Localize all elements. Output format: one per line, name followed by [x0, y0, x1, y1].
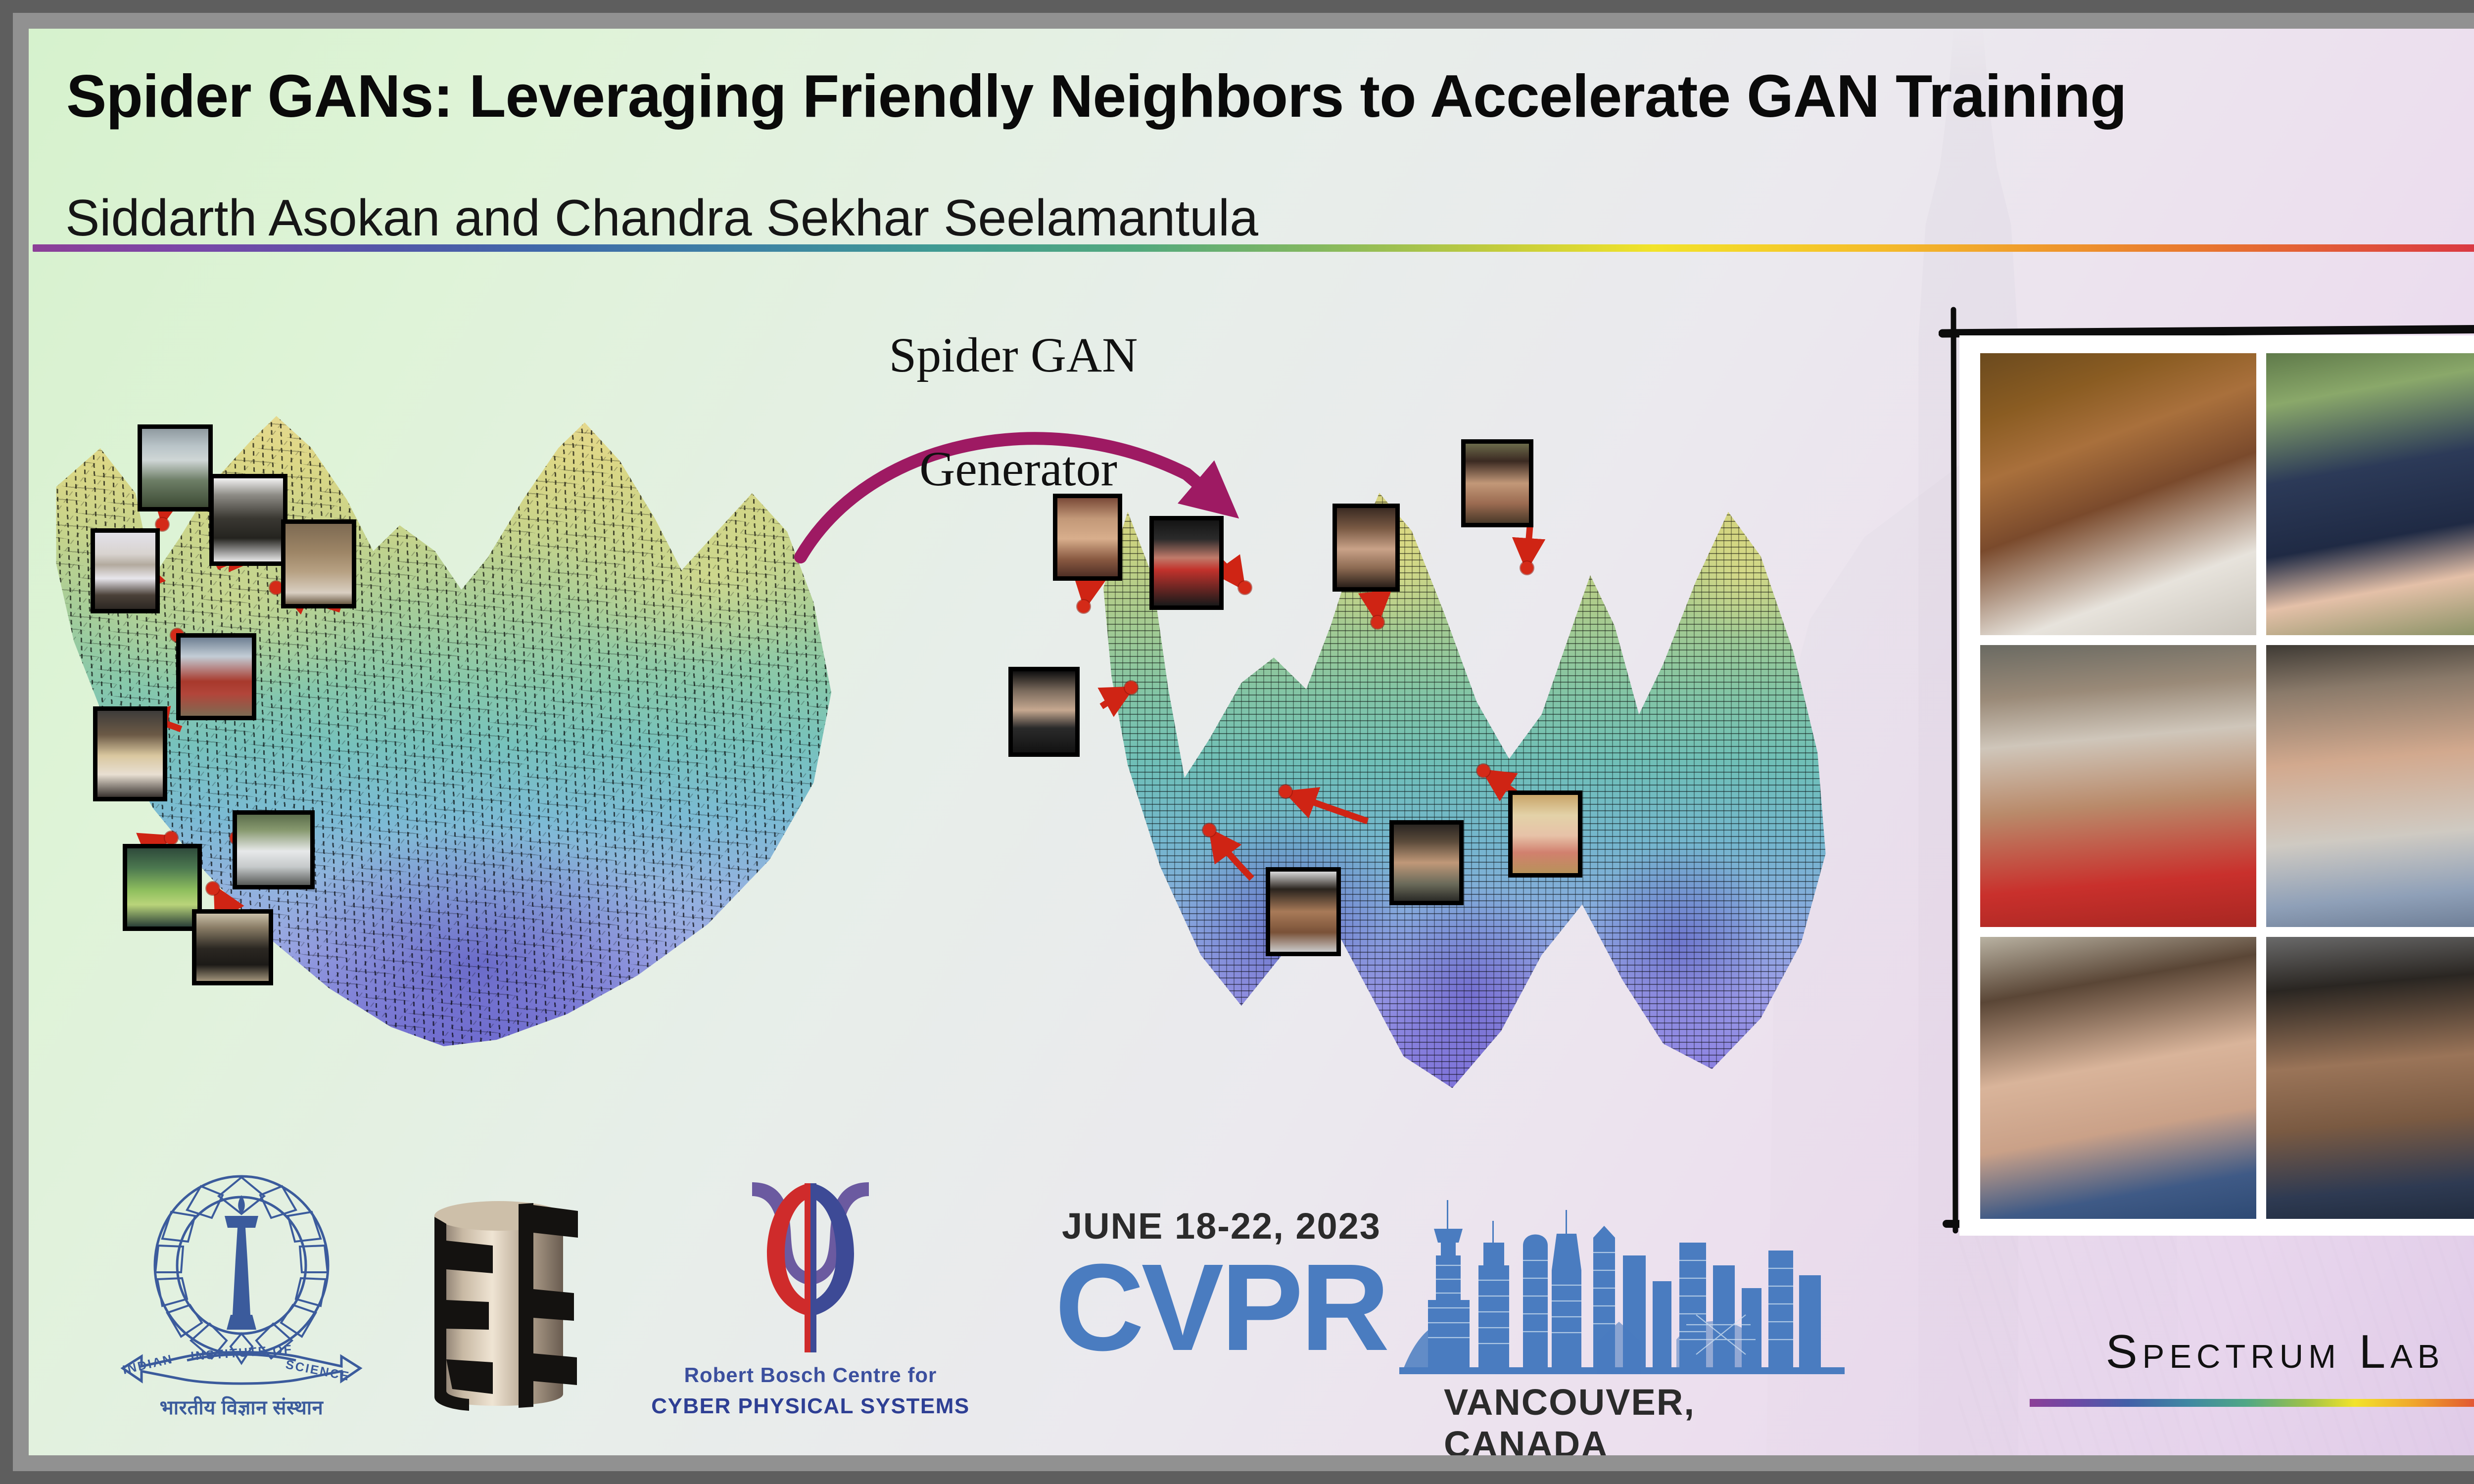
thumbnail-image: [196, 914, 269, 981]
iisc-ee-department-logo: [405, 1181, 593, 1429]
marker-r7: [1203, 824, 1216, 836]
marker-9: [206, 882, 219, 895]
poster-title: Spider GANs: Leveraging Friendly Neighbo…: [66, 65, 2474, 127]
iisc-logo: INDIAN INSTITUTE OF SCIENCE भारतीय विज्ञ…: [113, 1166, 370, 1434]
thumb-white-car: [233, 810, 315, 889]
thumb-black-dog: [209, 474, 287, 566]
iisc-crest-icon: INDIAN INSTITUTE OF SCIENCE: [113, 1166, 370, 1399]
thumbnail-image: [97, 711, 163, 797]
face-image: [1980, 645, 2256, 927]
thumbnail-image: [1013, 671, 1075, 752]
thumbnail-image: [214, 478, 283, 561]
cvpr-wordmark: CVPR: [1055, 1246, 1387, 1369]
thumb-dark-car: [192, 909, 273, 985]
poster-authors: Siddarth Asokan and Chandra Sekhar Seela…: [65, 192, 2143, 244]
thumbnail-image: [1513, 795, 1578, 873]
cvpr-2023-logo: JUNE 18-22, 2023 CVPR: [1053, 1191, 1845, 1448]
generated-faces-panel: [1939, 306, 2474, 1260]
face-image: [1980, 353, 2256, 635]
marker-r4: [1521, 561, 1533, 574]
face-image: [2266, 353, 2474, 635]
marker-r6: [1279, 785, 1292, 798]
vancouver-skyline-icon: [1399, 1191, 1845, 1389]
header-rainbow-divider: [33, 244, 2474, 252]
thumbnail-image: [1394, 825, 1459, 901]
rbccps-line2: CYBER PHYSICAL SYSTEMS: [637, 1394, 984, 1419]
face-elderly-woman-red: [1980, 645, 2256, 927]
generator-label: Generator: [845, 444, 1191, 494]
thumb-lamp: [91, 528, 160, 613]
face-image: [2266, 937, 2474, 1219]
thumbnail-image: [95, 533, 155, 609]
robert-bosch-centre-logo: Robert Bosch Centre for CYBER PHYSICAL S…: [637, 1161, 984, 1438]
thumb-satellite-dish: [138, 424, 213, 511]
marker-r2: [1238, 581, 1251, 594]
face-image: [2266, 645, 2474, 927]
ee-cylinder-icon: [405, 1181, 593, 1429]
cifar-loss-surface-figure: [39, 410, 919, 1053]
thumb-brown-bear: [281, 519, 356, 608]
marker-r3: [1371, 616, 1384, 629]
iisc-hindi-caption: भारतीय विज्ञान संस्थान: [113, 1393, 370, 1420]
face-man-suit-serious: [2266, 937, 2474, 1219]
face-thumb-young-man: [1266, 867, 1341, 956]
thumb-kitchen-fruit: [176, 633, 256, 720]
face-thumb-blonde-woman: [1508, 790, 1582, 878]
marker-r1: [1077, 600, 1090, 613]
generated-faces-grid: [1980, 353, 2474, 1219]
rbccps-psi-icon: [637, 1161, 984, 1359]
cvpr-location: VANCOUVER, CANADA: [1444, 1381, 1845, 1455]
rbccps-line1: Robert Bosch Centre for: [637, 1363, 984, 1387]
spider-gan-label: Spider GAN: [840, 330, 1187, 380]
face-image: [1980, 937, 2256, 1219]
face-woman-blue-hair: [2266, 353, 2474, 635]
thumbnail-image: [285, 524, 352, 604]
face-young-woman-smiling: [1980, 937, 2256, 1219]
poster-root: Spider GANs: Leveraging Friendly Neighbo…: [0, 0, 2474, 1484]
thumbnail-image: [127, 848, 197, 927]
marker-r5: [1125, 681, 1138, 694]
marker-r8: [1477, 764, 1490, 777]
spectrum-lab-logo: Spectrum Lab: [2008, 1325, 2474, 1438]
spectrum-lab-rainbow-rule: [2030, 1399, 2474, 1407]
thumbnail-image: [237, 815, 310, 885]
thumb-frog-green: [123, 844, 202, 931]
marker-7: [165, 832, 178, 844]
thumbnail-image: [181, 638, 252, 716]
spectrum-lab-wordmark: Spectrum Lab: [2008, 1325, 2474, 1379]
face-smiling-man-suit: [1980, 353, 2256, 635]
poster-canvas: Spider GANs: Leveraging Friendly Neighbo…: [29, 29, 2474, 1455]
face-thumb-man-dark-hair: [1389, 820, 1464, 905]
thumbnail-image: [142, 429, 208, 507]
thumbnail-image: [1270, 872, 1336, 952]
face-older-man-glasses: [2266, 645, 2474, 927]
thumb-indoor-person: [93, 706, 167, 801]
face-thumb-bald-glasses: [1008, 667, 1080, 757]
